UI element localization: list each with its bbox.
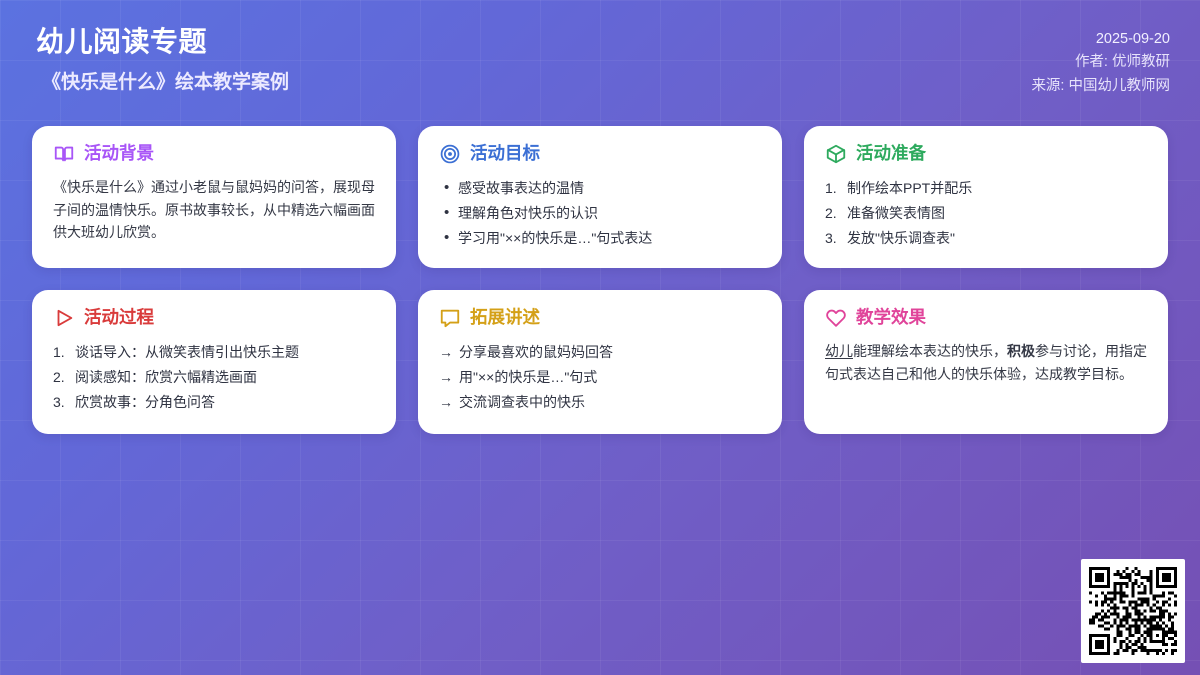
card-background: 活动背景 《快乐是什么》通过小老鼠与鼠妈妈的问答，展现母子间的温情快乐。原书故事… — [32, 126, 396, 268]
bullet-list: 感受故事表达的温情 理解角色对快乐的认识 学习用"××的快乐是…"句式表达 — [439, 176, 762, 251]
card-header: 活动准备 — [825, 143, 1148, 165]
card-header: 教学效果 — [825, 307, 1148, 329]
card-objectives: 活动目标 感受故事表达的温情 理解角色对快乐的认识 学习用"××的快乐是…"句式… — [418, 126, 782, 268]
underlined-text: 幼儿 — [825, 343, 853, 359]
card-title: 活动背景 — [84, 145, 154, 163]
card-header: 活动过程 — [53, 307, 376, 329]
list-item: 用"××的快乐是…"句式 — [439, 365, 762, 390]
list-item: 准备微笑表情图 — [825, 201, 1148, 226]
list-item: 阅读感知：欣赏六幅精选画面 — [53, 365, 376, 390]
card-preparation: 活动准备 制作绘本PPT并配乐 准备微笑表情图 发放"快乐调查表" — [804, 126, 1168, 268]
list-item: 感受故事表达的温情 — [439, 176, 762, 201]
numbered-list: 谈话导入：从微笑表情引出快乐主题 阅读感知：欣赏六幅精选画面 欣赏故事：分角色问… — [53, 340, 376, 415]
list-item: 欣赏故事：分角色问答 — [53, 390, 376, 415]
list-item: 发放"快乐调查表" — [825, 226, 1148, 251]
card-process: 活动过程 谈话导入：从微笑表情引出快乐主题 阅读感知：欣赏六幅精选画面 欣赏故事… — [32, 290, 396, 434]
card-title: 活动过程 — [84, 309, 154, 327]
card-header: 活动背景 — [53, 143, 376, 165]
card-paragraph: 幼儿能理解绘本表达的快乐，积极参与讨论，用指定句式表达自己和他人的快乐体验，达成… — [825, 340, 1148, 385]
card-body: 幼儿能理解绘本表达的快乐，积极参与讨论，用指定句式表达自己和他人的快乐体验，达成… — [825, 340, 1148, 385]
header-meta: 2025-09-20 作者: 优师教研 来源: 中国幼儿教师网 — [1031, 28, 1170, 98]
target-icon — [439, 143, 461, 165]
card-header: 拓展讲述 — [439, 307, 762, 329]
list-item: 制作绘本PPT并配乐 — [825, 176, 1148, 201]
arrow-list: 分享最喜欢的鼠妈妈回答 用"××的快乐是…"句式 交流调查表中的快乐 — [439, 340, 762, 415]
title-block: 幼儿阅读专题 《快乐是什么》绘本教学案例 — [36, 24, 289, 95]
card-effect: 教学效果 幼儿能理解绘本表达的快乐，积极参与讨论，用指定句式表达自己和他人的快乐… — [804, 290, 1168, 434]
page-subtitle: 《快乐是什么》绘本教学案例 — [42, 71, 289, 95]
page-title: 幼儿阅读专题 — [36, 24, 289, 59]
meta-date: 2025-09-20 — [1031, 28, 1170, 51]
paragraph-text: 能理解绘本表达的快乐， — [853, 343, 1007, 359]
card-title: 拓展讲述 — [470, 309, 540, 327]
meta-author: 作者: 优师教研 — [1031, 51, 1170, 74]
card-header: 活动目标 — [439, 143, 762, 165]
list-item: 交流调查表中的快乐 — [439, 390, 762, 415]
heart-icon — [825, 307, 847, 329]
bold-text: 积极 — [1007, 343, 1035, 359]
qr-code[interactable] — [1089, 567, 1177, 655]
card-title: 教学效果 — [856, 309, 926, 327]
list-item: 学习用"××的快乐是…"句式表达 — [439, 226, 762, 251]
list-item: 谈话导入：从微笑表情引出快乐主题 — [53, 340, 376, 365]
card-body: 感受故事表达的温情 理解角色对快乐的认识 学习用"××的快乐是…"句式表达 — [439, 176, 762, 251]
card-body: 制作绘本PPT并配乐 准备微笑表情图 发放"快乐调查表" — [825, 176, 1148, 251]
card-title: 活动准备 — [856, 145, 926, 163]
meta-source: 来源: 中国幼儿教师网 — [1031, 75, 1170, 98]
card-body: 分享最喜欢的鼠妈妈回答 用"××的快乐是…"句式 交流调查表中的快乐 — [439, 340, 762, 415]
card-grid: 活动背景 《快乐是什么》通过小老鼠与鼠妈妈的问答，展现母子间的温情快乐。原书故事… — [32, 126, 1168, 434]
open-book-icon — [53, 143, 75, 165]
speech-bubble-icon — [439, 307, 461, 329]
package-box-icon — [825, 143, 847, 165]
card-paragraph: 《快乐是什么》通过小老鼠与鼠妈妈的问答，展现母子间的温情快乐。原书故事较长，从中… — [53, 176, 376, 244]
card-extension: 拓展讲述 分享最喜欢的鼠妈妈回答 用"××的快乐是…"句式 交流调查表中的快乐 — [418, 290, 782, 434]
play-triangle-icon — [53, 307, 75, 329]
slide-header: 幼儿阅读专题 《快乐是什么》绘本教学案例 2025-09-20 作者: 优师教研… — [0, 0, 1200, 118]
qr-code-container[interactable] — [1081, 559, 1185, 663]
list-item: 分享最喜欢的鼠妈妈回答 — [439, 340, 762, 365]
numbered-list: 制作绘本PPT并配乐 准备微笑表情图 发放"快乐调查表" — [825, 176, 1148, 251]
card-title: 活动目标 — [470, 145, 540, 163]
slide-root: 幼儿阅读专题 《快乐是什么》绘本教学案例 2025-09-20 作者: 优师教研… — [0, 0, 1200, 675]
card-body: 《快乐是什么》通过小老鼠与鼠妈妈的问答，展现母子间的温情快乐。原书故事较长，从中… — [53, 176, 376, 244]
list-item: 理解角色对快乐的认识 — [439, 201, 762, 226]
card-body: 谈话导入：从微笑表情引出快乐主题 阅读感知：欣赏六幅精选画面 欣赏故事：分角色问… — [53, 340, 376, 415]
